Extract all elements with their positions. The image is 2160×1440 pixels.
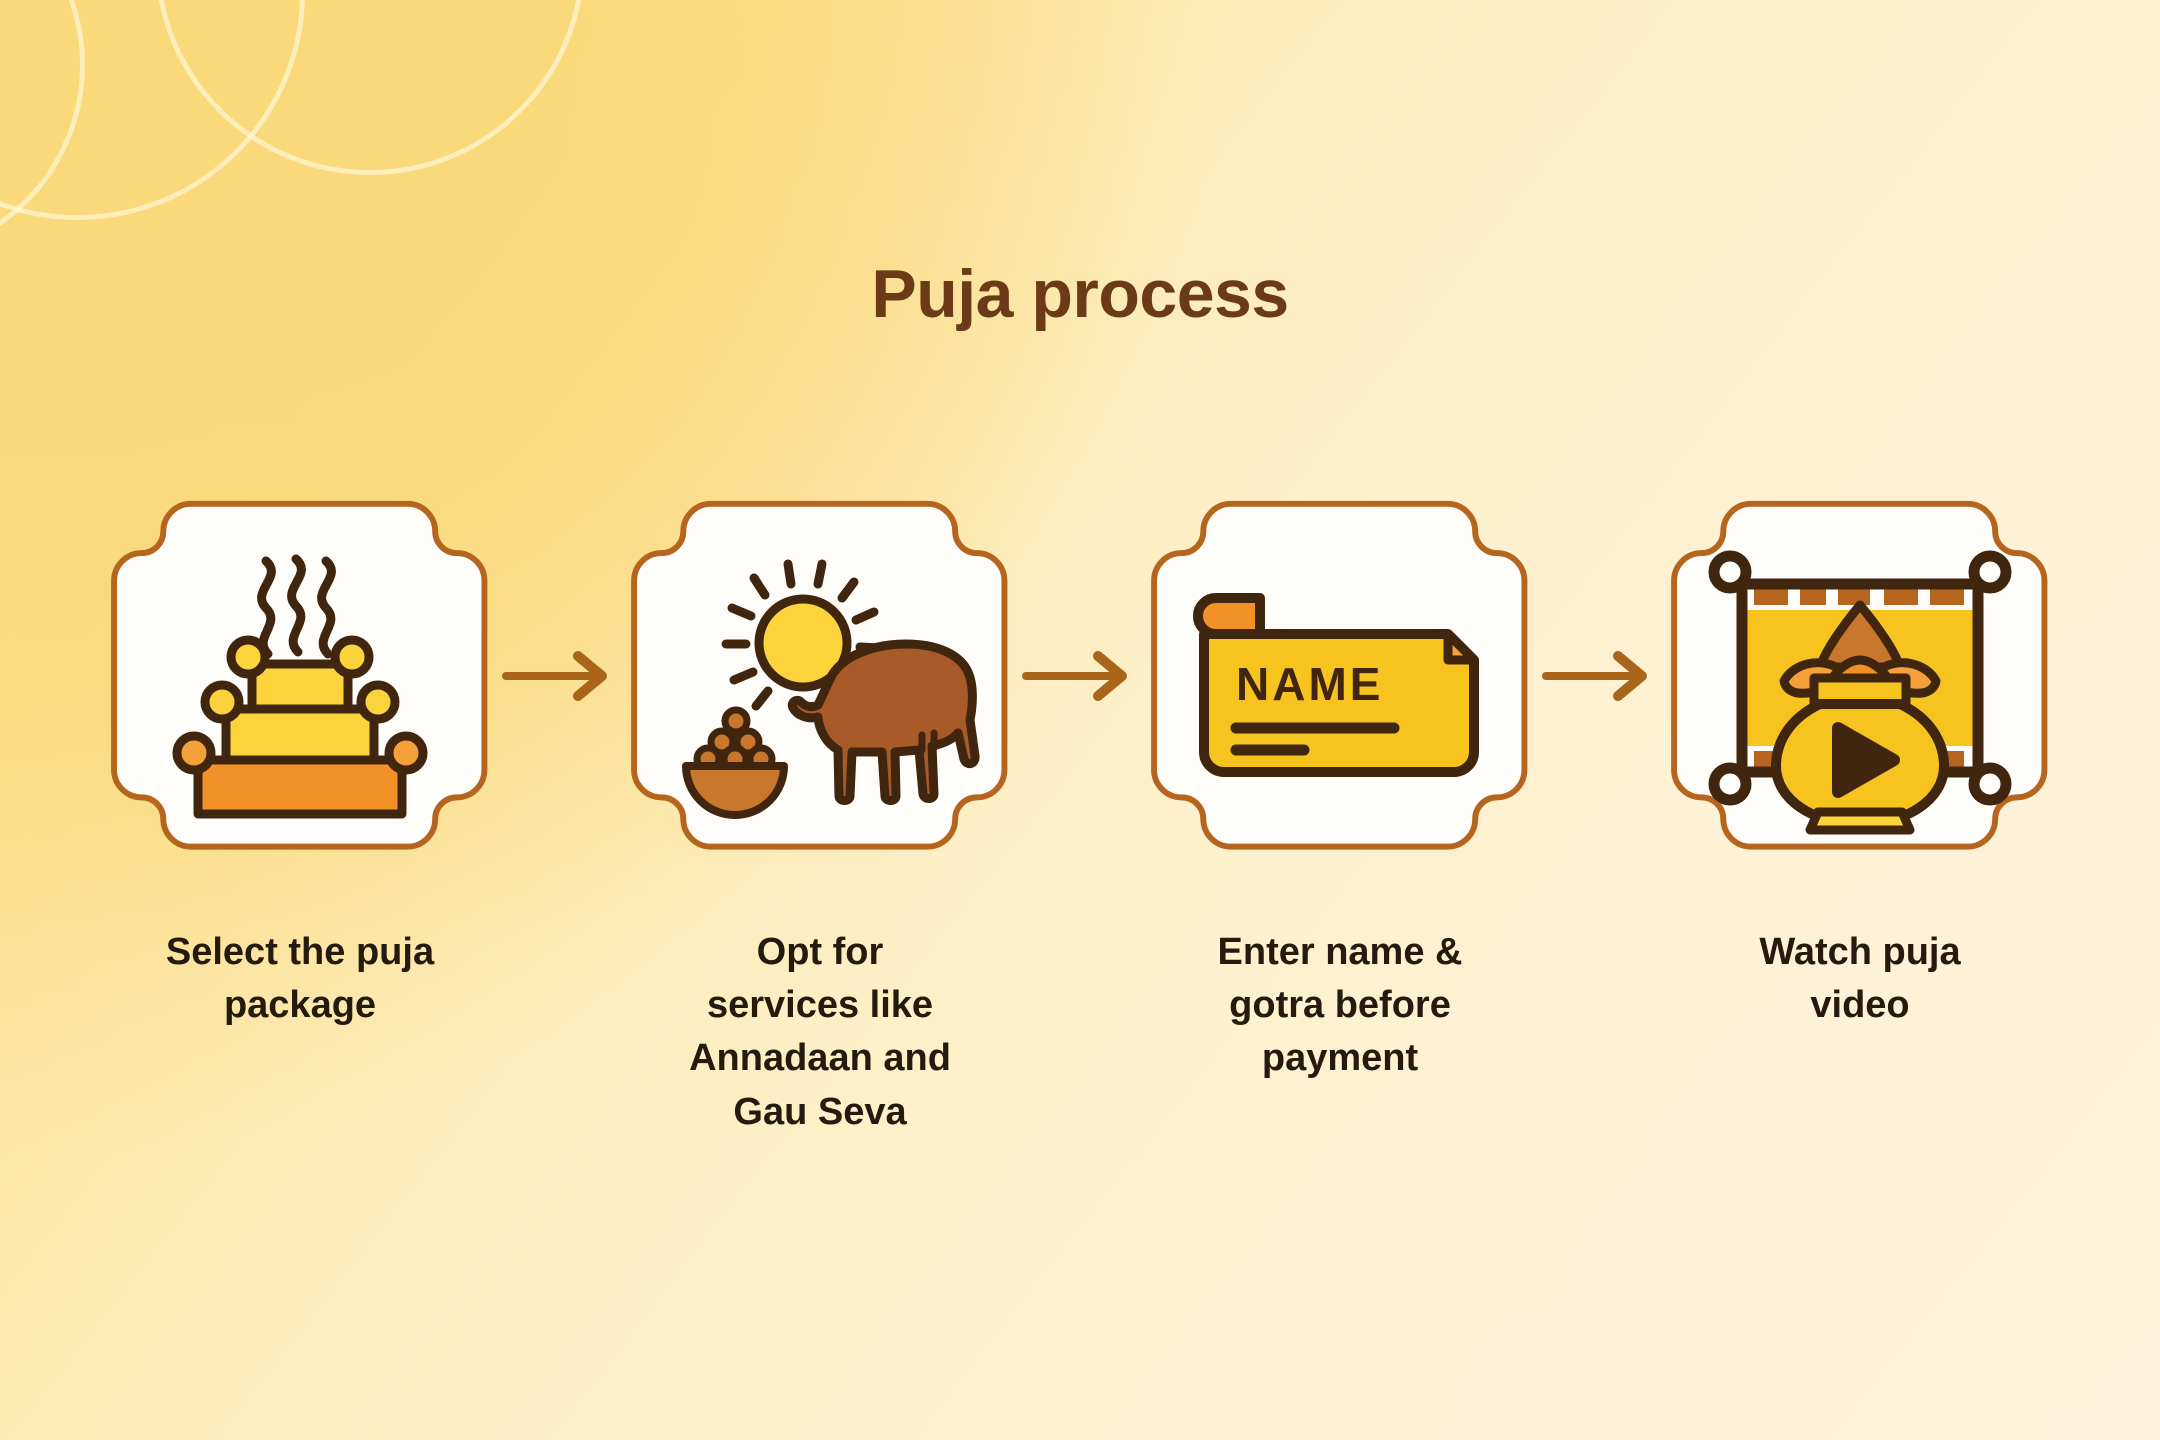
name-card-label: NAME <box>1236 658 1383 710</box>
step-2-caption: Opt for services like Annadaan and Gau S… <box>655 926 985 1139</box>
background-circle-decoration-2 <box>155 0 585 175</box>
process-step-3: NAME Enter name & gotra before payment <box>1144 492 1536 1086</box>
arrow-step3-to-step4 <box>1536 492 1664 860</box>
step-2-icon-card[interactable] <box>636 492 1004 860</box>
kalash-base <box>1810 812 1910 830</box>
background-circle-decoration-3 <box>0 0 85 260</box>
puja-process-infographic: Puja process <box>0 0 2160 1440</box>
page-title: Puja process <box>0 255 2160 333</box>
step-4-icon-card[interactable] <box>1676 492 2044 860</box>
process-flow: Select the puja package <box>0 492 2160 1139</box>
step-1-icon-card[interactable] <box>116 492 484 860</box>
arrow-step1-to-step2 <box>496 492 624 860</box>
process-step-2: Opt for services like Annadaan and Gau S… <box>624 492 1016 1139</box>
arrow-step2-to-step3 <box>1016 492 1144 860</box>
process-step-4: Watch puja video <box>1664 492 2056 1032</box>
process-step-1: Select the puja package <box>104 492 496 1032</box>
step-3-icon-card[interactable]: NAME <box>1156 492 1524 860</box>
step-3-caption: Enter name & gotra before payment <box>1175 926 1505 1086</box>
step-4-caption: Watch puja video <box>1695 926 2025 1032</box>
background-circle-decoration-1 <box>0 0 305 220</box>
step-1-caption: Select the puja package <box>135 926 465 1032</box>
